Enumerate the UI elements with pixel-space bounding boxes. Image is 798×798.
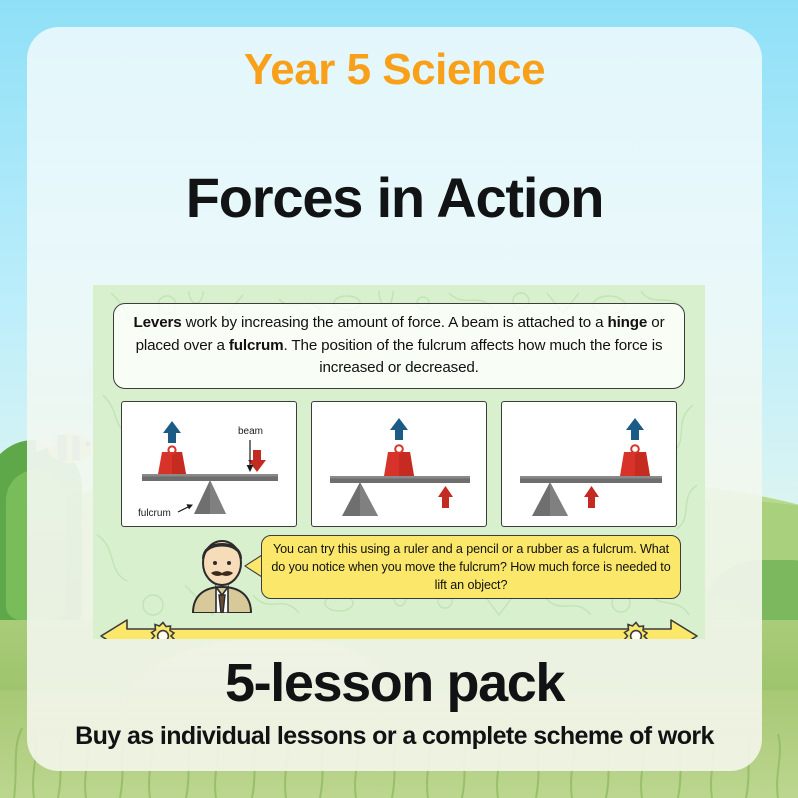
- pack-subtitle: Buy as individual lessons or a complete …: [27, 722, 762, 751]
- intro-part3: . The position of the fulcrum affects ho…: [284, 337, 663, 376]
- speech-row: You can try this using a ruler and a pen…: [115, 535, 683, 613]
- lever-diagram-2: [311, 401, 487, 527]
- lever-diagram-1: beam fulcrum: [121, 401, 297, 527]
- lever-diagram-1-icon: beam fulcrum: [122, 402, 297, 527]
- lever-diagram-2-icon: [312, 402, 487, 527]
- subject-kicker: Year 5 Science: [27, 45, 762, 95]
- worksheet-intro-text: Levers work by increasing the amount of …: [114, 312, 684, 379]
- lever-diagram-3: [501, 401, 677, 527]
- lever-diagram-panels: beam fulcrum: [121, 401, 677, 527]
- speech-bubble: You can try this using a ruler and a pen…: [261, 535, 681, 599]
- arrow-bar-icon: [93, 615, 705, 639]
- svg-text:fulcrum: fulcrum: [138, 508, 171, 519]
- speech-bubble-text: You can try this using a ruler and a pen…: [262, 540, 680, 595]
- term-levers: Levers: [134, 314, 182, 331]
- worksheet-preview[interactable]: Levers work by increasing the amount of …: [93, 285, 705, 639]
- pack-label: 5-lesson pack: [27, 652, 762, 714]
- lever-diagram-3-icon: [502, 402, 677, 527]
- intro-part1: work by increasing the amount of force. …: [182, 314, 608, 331]
- page-title: Forces in Action: [27, 165, 762, 230]
- term-fulcrum: fulcrum: [229, 337, 284, 354]
- worksheet-intro-box: Levers work by increasing the amount of …: [113, 303, 685, 389]
- svg-text:beam: beam: [238, 426, 263, 437]
- term-hinge: hinge: [607, 314, 647, 331]
- card-content: Year 5 Science Forces in Action: [27, 27, 762, 771]
